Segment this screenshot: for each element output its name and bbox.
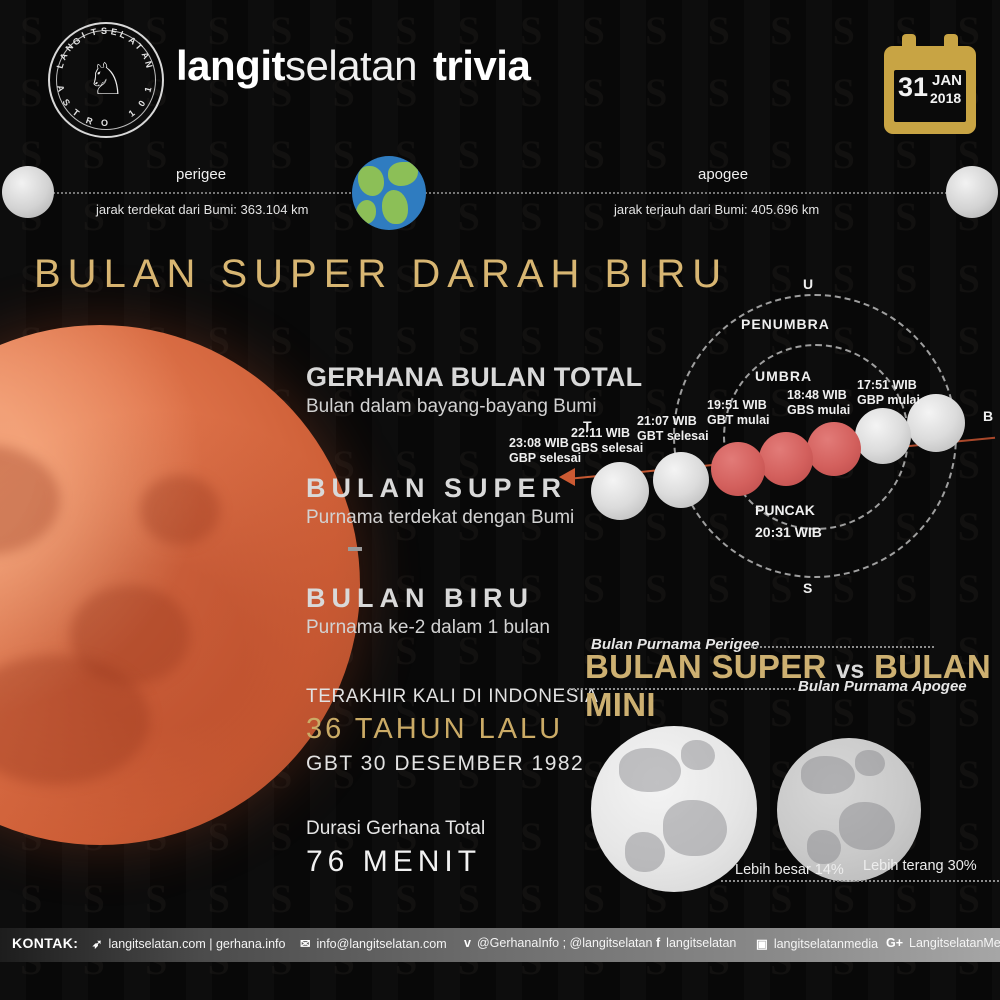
phase-label-gbp-mulai: 17:51 WIB GBP mulai — [857, 378, 920, 408]
caption-dash-bottom — [569, 688, 795, 690]
eclipse-moon-phase — [653, 452, 709, 508]
phase-time: 21:07 WIB — [637, 414, 697, 428]
peak-label: PUNCAK — [755, 502, 815, 518]
brand-trivia: trivia — [433, 42, 530, 89]
contact-item-instagram[interactable]: ▣langitselatanmedia — [756, 936, 878, 951]
contact-item-website[interactable]: ➶langitselatan.com | gerhana.info — [92, 936, 285, 951]
perigee-moon-icon — [2, 166, 54, 218]
logo-bottom-text: ASTRO 101 — [50, 24, 158, 132]
apogee-moon-icon — [946, 166, 998, 218]
eclipse-moon-phase — [807, 422, 861, 476]
brand-bold: langit — [176, 42, 285, 89]
moon-mare — [619, 748, 681, 792]
brand-light: selatan — [285, 42, 417, 89]
phase-event: GBS selesai — [571, 441, 643, 455]
rss-icon: ➶ — [92, 936, 102, 951]
earth-landmass — [382, 190, 408, 224]
apogee-caption: Bulan Purnama Apogee — [798, 678, 967, 695]
eclipse-path-diagram: U S T B PENUMBRA UMBRA PUNCAK 20:31 WIB … — [555, 280, 1000, 610]
contact-text: info@langitselatan.com — [316, 937, 446, 951]
perigee-label: perigee — [176, 166, 226, 183]
last-occurrence-detail: GBT 30 DESEMBER 1982 — [306, 752, 584, 776]
fact-sub-super-moon: Purnama terdekat dengan Bumi — [306, 507, 574, 529]
super-moon-illustration — [591, 726, 757, 892]
apogee-label: apogee — [698, 166, 748, 183]
twitter-icon: ᴠ — [464, 936, 471, 950]
phase-label-gbt-mulai: 19:51 WIB GBT mulai — [707, 398, 770, 428]
earth-icon — [352, 156, 426, 230]
phase-event: GBS mulai — [787, 403, 850, 417]
phase-label-gbs-mulai: 18:48 WIB GBS mulai — [787, 388, 850, 418]
contact-text: langitselatan — [666, 936, 736, 950]
fact-sub-blue-moon: Purnama ke-2 dalam 1 bulan — [306, 617, 550, 639]
contact-text: LangitselatanMedia — [909, 936, 1000, 950]
contact-item-googleplus[interactable]: G+LangitselatanMedia — [886, 936, 1000, 950]
orbit-distance-line — [22, 192, 978, 194]
axis-label-up: U — [803, 276, 814, 292]
calendar-body: 31 JAN 2018 — [884, 46, 976, 134]
perigee-distance: jarak terdekat dari Bumi: 363.104 km — [96, 202, 308, 217]
fact-heading-blue-moon: BULAN BIRU — [306, 583, 534, 614]
contact-text: langitselatan.com | gerhana.info — [108, 937, 285, 951]
comparison-title-left: BULAN SUPER — [585, 648, 827, 685]
phase-label-gbs-selesai: 22:11 WIB GBS selesai — [571, 426, 643, 456]
caption-bigger-percent: Lebih besar 14% — [735, 862, 844, 878]
phase-event: GBP mulai — [857, 393, 920, 407]
caption-dash-line — [721, 880, 1000, 882]
eclipse-moon-phase — [711, 442, 765, 496]
instagram-icon: ▣ — [756, 936, 768, 951]
duration-value: 76 MENIT — [306, 845, 481, 879]
moon-mare — [663, 800, 727, 856]
contact-text: langitselatanmedia — [774, 937, 878, 951]
phase-event: GBT selesai — [637, 429, 709, 443]
super-vs-mini-section: Bulan Purnama Perigee BULAN SUPER vs BUL… — [555, 630, 1000, 900]
langitselatan-logo: LANGITSELATAN ♘ ASTRO 101 — [48, 22, 164, 138]
email-icon: ✉ — [300, 936, 310, 951]
phase-time: 19:51 WIB — [707, 398, 767, 412]
moon-mare — [801, 756, 855, 794]
moon-mare — [625, 832, 665, 872]
calendar-icon: 31 JAN 2018 — [884, 34, 976, 134]
duration-label: Durasi Gerhana Total — [306, 818, 485, 840]
moon-mare — [0, 445, 60, 555]
moon-mare — [140, 475, 220, 545]
brand-title: langitselatantrivia — [176, 42, 530, 90]
eclipse-moon-phase — [855, 408, 911, 464]
moon-mare — [681, 740, 715, 770]
divider-dash — [348, 547, 362, 551]
fact-sub-total-eclipse: Bulan dalam bayang-bayang Bumi — [306, 396, 596, 418]
axis-label-south: S — [803, 580, 813, 596]
phase-event: GBP selesai — [509, 451, 581, 465]
peak-time: 20:31 WIB — [755, 524, 822, 540]
calendar-day: 31 — [898, 72, 928, 103]
phase-label-gbt-selesai: 21:07 WIB GBT selesai — [637, 414, 709, 444]
earth-landmass — [358, 166, 384, 196]
axis-label-east: B — [983, 408, 994, 424]
track-arrow-icon — [559, 468, 575, 486]
googleplus-icon: G+ — [886, 936, 903, 950]
moon-mare — [807, 830, 841, 864]
infographic-page: SSSSSSSSSSSSSSSSSSSSSSSSSSSSSSSSSSSSSSSS… — [0, 0, 1000, 1000]
contact-label: KONTAK: — [12, 935, 78, 951]
phase-time: 18:48 WIB — [787, 388, 847, 402]
phase-time: 17:51 WIB — [857, 378, 917, 392]
phase-event: GBT mulai — [707, 413, 770, 427]
calendar-month: JAN — [932, 72, 962, 89]
caption-brighter-percent: Lebih terang 30% — [863, 858, 977, 874]
moon-mare — [839, 802, 895, 850]
contact-item-twitter[interactable]: ᴠ@GerhanaInfo ; @langitselatan — [464, 936, 652, 950]
moon-mare — [855, 750, 885, 776]
contact-item-email[interactable]: ✉info@langitselatan.com — [300, 936, 447, 951]
umbra-label: UMBRA — [755, 368, 812, 384]
fact-heading-super-moon: BULAN SUPER — [306, 473, 567, 504]
contact-text: @GerhanaInfo ; @langitselatan — [477, 936, 652, 950]
phase-label-gbp-selesai: 23:08 WIB GBP selesai — [509, 436, 581, 466]
contact-item-facebook[interactable]: flangitselatan — [656, 936, 736, 950]
apogee-distance: jarak terjauh dari Bumi: 405.696 km — [614, 202, 819, 217]
last-occurrence-value: 36 TAHUN LALU — [306, 713, 563, 746]
eclipse-moon-phase — [591, 462, 649, 520]
penumbra-label: PENUMBRA — [741, 316, 830, 332]
calendar-year: 2018 — [930, 90, 961, 106]
facebook-icon: f — [656, 936, 660, 950]
phase-time: 23:08 WIB — [509, 436, 569, 450]
earth-landmass — [388, 162, 418, 186]
earth-landmass — [356, 200, 376, 224]
eclipse-moon-phase — [759, 432, 813, 486]
